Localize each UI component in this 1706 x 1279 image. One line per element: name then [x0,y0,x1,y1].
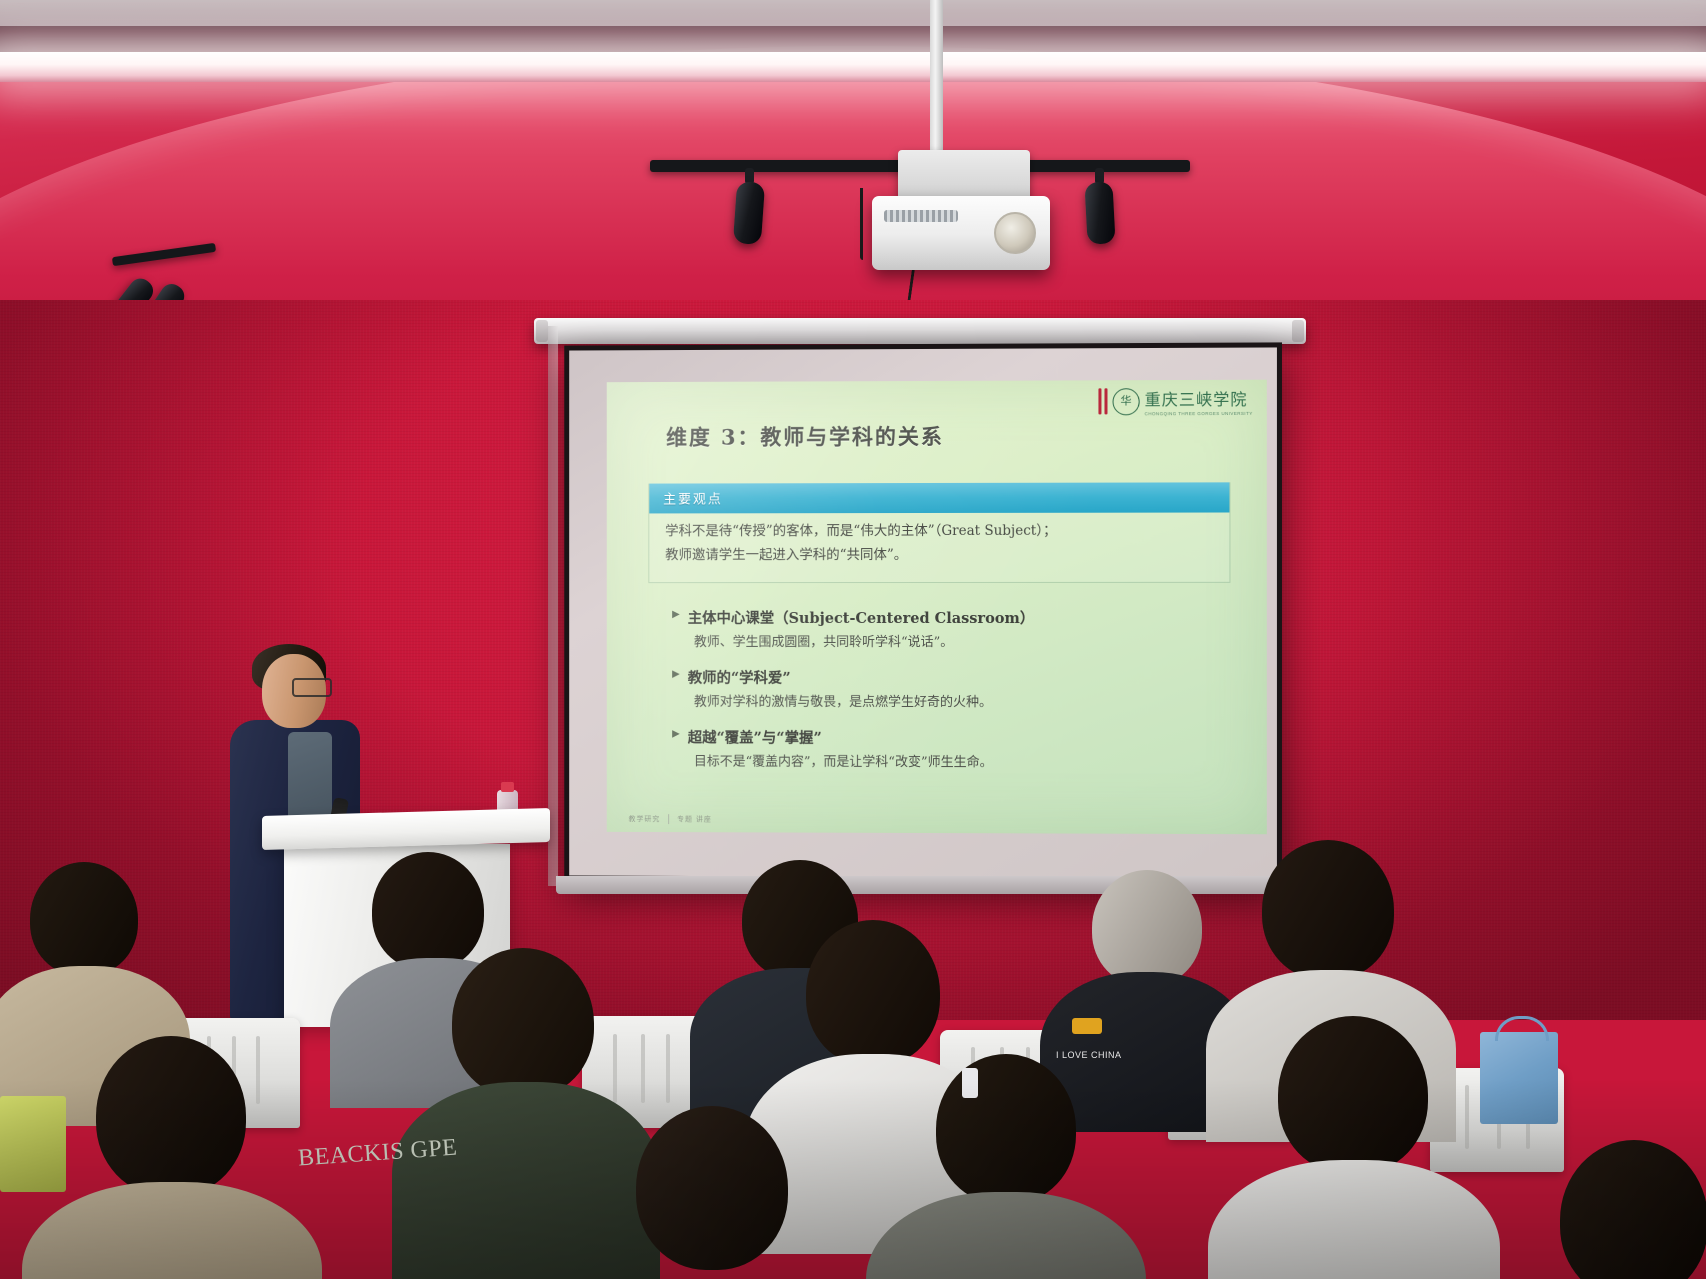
bullet-heading-row: ▶ 教师的“学科爱” [672,666,1244,688]
tote-bag [1480,1032,1558,1124]
audience-head [452,948,594,1098]
bullet-heading: 超越“覆盖”与“掌握” [688,726,822,747]
projector-cable-a [860,188,863,260]
presentation-slide: 华 重庆三峡学院 CHONGQING THREE GORGES UNIVERSI… [607,380,1267,835]
logo-name-cn: 重庆三峡学院 [1145,390,1248,409]
ceiling-light-strip [0,52,1706,82]
university-logo: 华 重庆三峡学院 CHONGQING THREE GORGES UNIVERSI… [1098,386,1252,417]
audience-head [806,920,940,1066]
bullet-marker-icon: ▶ [672,726,680,741]
slide-footer-right: 专题 讲座 [677,814,712,824]
logo-seal-icon: 华 [1112,388,1139,415]
projector-lens-icon [994,212,1036,254]
audience-shoulders [22,1182,322,1279]
bullet-item: ▶ 教师的“学科爱” 教师对学科的激情与敬畏，是点燃学生好奇的火种。 [672,666,1244,710]
projector-bracket [898,150,1030,202]
audience-head [1092,870,1202,986]
projection-screen: 华 重庆三峡学院 CHONGQING THREE GORGES UNIVERSI… [564,342,1282,883]
lecture-hall-photo: 华 重庆三峡学院 CHONGQING THREE GORGES UNIVERSI… [0,0,1706,1279]
screen-left-edge [548,326,558,886]
phone [962,1068,978,1098]
bullet-list: ▶ 主体中心课堂（Subject-Centered Classroom） 教师、… [672,606,1244,770]
shirt-text: I LOVE CHINA [1056,1050,1122,1060]
logo-red-bars-icon [1098,388,1107,414]
bullet-heading-row: ▶ 主体中心课堂（Subject-Centered Classroom） [672,606,1244,627]
shirt-badge-icon [1072,1018,1102,1034]
bullet-item: ▶ 主体中心课堂（Subject-Centered Classroom） 教师、… [672,606,1244,649]
glasses-icon [292,678,332,697]
audience-head [1262,840,1394,980]
projector-mount-pole [930,0,943,156]
bullet-subtext: 教师对学科的激情与敬畏，是点燃学生好奇的火种。 [694,690,1245,710]
keypoint-box: 主要观点 学科不是待“传授”的客体，而是“伟大的主体”（Great Subjec… [648,482,1230,582]
bottle-cap-icon [501,782,514,792]
bullet-heading: 教师的“学科爱” [688,666,791,687]
audience-shoulders [1208,1160,1500,1279]
keypoint-body: 学科不是待“传授”的客体，而是“伟大的主体”（Great Subject）； 教… [649,512,1229,581]
projector-vent-icon [884,210,958,222]
ceiling-light-strip-upper [0,0,1706,26]
slide-footer-left: 教学研究 [629,814,661,824]
logo-text-block: 重庆三峡学院 CHONGQING THREE GORGES UNIVERSITY [1145,386,1253,417]
audience-head [1560,1140,1706,1279]
keypoint-line: 教师邀请学生一起进入学科的“共同体”。 [665,545,1213,566]
slide-footer-divider [668,814,669,824]
bullet-marker-icon: ▶ [672,607,680,622]
bullet-heading: 主体中心课堂（Subject-Centered Classroom） [688,606,1035,627]
logo-name-en: CHONGQING THREE GORGES UNIVERSITY [1145,411,1253,416]
satchel [0,1096,66,1192]
bullet-item: ▶ 超越“覆盖”与“掌握” 目标不是“覆盖内容”，而是让学科“改变”师生生命。 [672,726,1244,770]
audience-area: I LOVE CHINA BEACKIS GPE [0,840,1706,1279]
ceiling-arch [0,46,1706,330]
keypoint-line: 学科不是待“传授”的客体，而是“伟大的主体”（Great Subject）； [665,521,1213,542]
audience-head [936,1054,1076,1204]
bullet-marker-icon: ▶ [672,666,680,681]
audience-head [30,862,138,976]
screen-housing [534,318,1306,344]
audience-head [372,852,484,970]
audience-head [636,1106,788,1270]
screen-surface: 华 重庆三峡学院 CHONGQING THREE GORGES UNIVERSI… [569,347,1277,878]
bullet-subtext: 教师、学生围成圆圈，共同聆听学科“说话”。 [694,630,1245,649]
keypoint-header: 主要观点 [649,482,1229,513]
slide-title: 维度 3：教师与学科的关系 [666,420,1244,452]
ceiling-projector [872,196,1050,270]
bullet-heading-row: ▶ 超越“覆盖”与“掌握” [672,726,1244,748]
audience-shoulders [392,1082,660,1279]
audience-head [1278,1016,1428,1174]
slide-footer: 教学研究 专题 讲座 [629,814,712,824]
bag-handle-icon [1495,1016,1549,1041]
bullet-subtext: 目标不是“覆盖内容”，而是让学科“改变”师生生命。 [694,750,1245,770]
audience-head [96,1036,246,1196]
